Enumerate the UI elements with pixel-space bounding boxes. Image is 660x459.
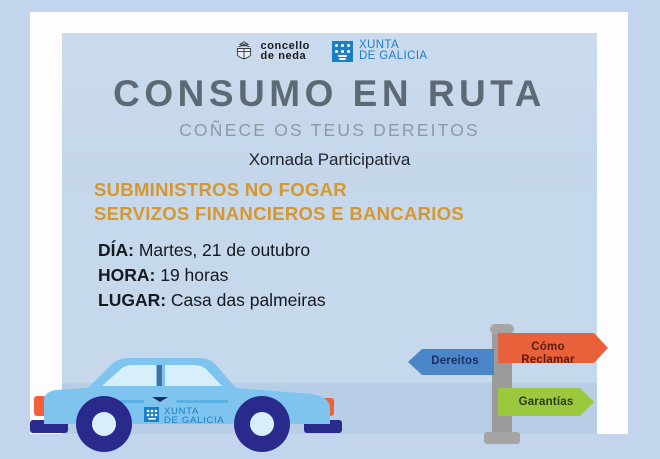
car-hubcap-front — [250, 412, 274, 436]
heraldic-crest-icon — [232, 39, 256, 63]
event-details: DÍA: Martes, 21 de outubro HORA: 19 hora… — [98, 238, 326, 313]
signpost-base — [484, 432, 520, 444]
sign-dereitos — [408, 349, 494, 375]
detail-row-lugar: LUGAR: Casa das palmeiras — [98, 288, 326, 313]
car-window-pillar — [157, 365, 162, 386]
detail-row-dia: DÍA: Martes, 21 de outubro — [98, 238, 326, 263]
signpost-cap — [490, 324, 514, 334]
topic-line-2: SERVIZOS FINANCIEROS E BANCARIOS — [94, 202, 464, 226]
xunta-logo-text: XUNTADE GALICIA — [359, 40, 428, 62]
poster-subtitle: COÑECE OS TEUS DEREITOS — [62, 117, 597, 143]
car-badge-line-2: DE GALICIA — [164, 415, 224, 426]
concello-line-2: de neda — [261, 50, 307, 62]
sign-como-reclamar — [498, 333, 608, 363]
xunta-line-2: DE GALICIA — [359, 50, 428, 62]
car-hubcap-rear — [92, 412, 116, 436]
logo-row: concellode neda XUNTADE GALICIA — [62, 39, 597, 63]
concello-logo-text: concellode neda — [261, 41, 310, 62]
detail-label-lugar: LUGAR: — [98, 290, 166, 310]
xunta-de-galicia-car: XUNTA DE GALICIA — [26, 352, 346, 452]
sign-garantias — [498, 388, 594, 416]
poster-title: CONSUMO EN RUTA — [62, 73, 597, 115]
poster-kicker: Xornada Participativa — [62, 147, 597, 173]
car-graphic: XUNTA DE GALICIA — [26, 352, 346, 452]
detail-label-hora: HORA: — [98, 265, 155, 285]
signpost-graphic — [398, 318, 638, 448]
detail-value-hora: 19 horas — [160, 265, 228, 285]
xunta-square-mark-icon — [332, 41, 353, 62]
signpost: Dereitos CómoReclamar Garantías — [398, 318, 638, 448]
car-door-line-front — [176, 400, 228, 403]
headline-block: CONSUMO EN RUTA COÑECE OS TEUS DEREITOS … — [62, 73, 597, 173]
detail-value-lugar: Casa das palmeiras — [171, 290, 326, 310]
xunta-de-galicia-logo: XUNTADE GALICIA — [332, 40, 428, 62]
detail-value-dia: Martes, 21 de outubro — [139, 240, 310, 260]
topics-block: SUBMINISTROS NO FOGAR SERVIZOS FINANCIER… — [94, 178, 464, 226]
concello-de-neda-logo: concellode neda — [232, 39, 310, 63]
detail-label-dia: DÍA: — [98, 240, 134, 260]
topic-line-1: SUBMINISTROS NO FOGAR — [94, 178, 464, 202]
poster-root: concellode neda XUNTADE GALICIA CONSUMO … — [0, 0, 660, 459]
detail-row-hora: HORA: 19 horas — [98, 263, 326, 288]
